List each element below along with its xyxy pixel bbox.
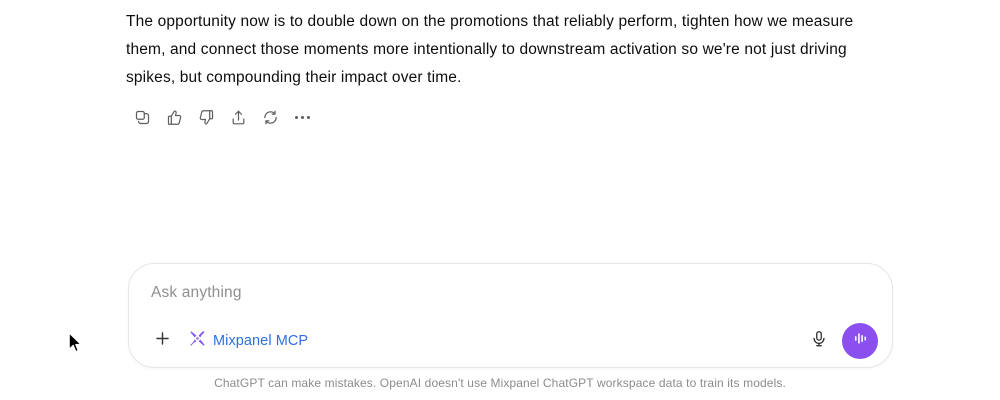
regenerate-icon bbox=[262, 109, 279, 126]
copy-icon bbox=[134, 109, 151, 126]
composer-toolbar: Mixpanel MCP bbox=[129, 315, 892, 367]
voice-mode-button[interactable] bbox=[842, 323, 878, 359]
assistant-message: The opportunity now is to double down on… bbox=[126, 8, 886, 92]
thumbs-down-button[interactable] bbox=[190, 104, 222, 130]
share-upload-icon bbox=[230, 109, 247, 126]
ellipsis-icon bbox=[295, 116, 310, 119]
dictate-button[interactable] bbox=[804, 326, 834, 356]
share-button[interactable] bbox=[222, 104, 254, 130]
thumbs-up-icon bbox=[166, 109, 183, 126]
voice-waveform-icon bbox=[851, 329, 870, 353]
message-composer[interactable]: Ask anything bbox=[128, 263, 893, 368]
disclaimer-text: ChatGPT can make mistakes. OpenAI doesn'… bbox=[0, 376, 1000, 390]
more-options-button[interactable] bbox=[286, 104, 318, 130]
assistant-message-text: The opportunity now is to double down on… bbox=[126, 8, 886, 92]
tool-chip-mixpanel-mcp[interactable]: Mixpanel MCP bbox=[183, 327, 314, 355]
thumbs-down-icon bbox=[198, 109, 215, 126]
tool-chip-label: Mixpanel MCP bbox=[213, 333, 308, 349]
prompt-input[interactable]: Ask anything bbox=[151, 283, 242, 303]
message-action-toolbar bbox=[126, 104, 318, 130]
mouse-cursor bbox=[68, 332, 84, 354]
copy-button[interactable] bbox=[126, 104, 158, 130]
microphone-icon bbox=[810, 330, 828, 353]
thumbs-up-button[interactable] bbox=[158, 104, 190, 130]
regenerate-button[interactable] bbox=[254, 104, 286, 130]
plus-icon bbox=[153, 329, 172, 353]
add-attachment-button[interactable] bbox=[147, 326, 177, 356]
mixpanel-logo-icon bbox=[189, 330, 206, 352]
